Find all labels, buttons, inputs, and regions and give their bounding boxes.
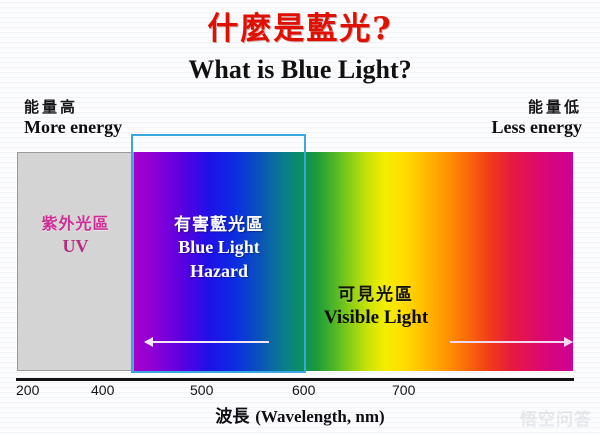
page-title-english: What is Blue Light?	[0, 57, 600, 83]
axis-tick-500: 500	[190, 383, 213, 397]
more-energy-chinese: 能量高	[24, 100, 122, 116]
axis-caption: 波長 (Wavelength, nm)	[0, 408, 600, 426]
hazard-label-english-line1: Blue Light	[140, 237, 298, 259]
axis-tick-200: 200	[16, 383, 39, 397]
arrow-right-shaft	[450, 341, 572, 343]
visible-label-english: Visible Light	[300, 307, 452, 330]
more-energy-caption: 能量高 More energy	[24, 100, 122, 137]
uv-label-english: UV	[17, 236, 134, 257]
wavelength-axis-line	[16, 378, 574, 381]
visible-light-label: 可見光區 Visible Light	[300, 285, 452, 330]
more-energy-english: More energy	[24, 118, 122, 137]
axis-tick-700: 700	[392, 383, 415, 397]
less-energy-chinese: 能量低	[492, 100, 582, 116]
page-title-chinese: 什麼是藍光?	[0, 14, 600, 45]
arrow-right-head	[564, 337, 573, 347]
uv-region-panel	[17, 152, 134, 371]
arrow-left-head	[144, 337, 153, 347]
hazard-label-english-line2: Hazard	[140, 261, 298, 283]
axis-caption-chinese: 波長	[215, 407, 249, 427]
axis-caption-english: (Wavelength, nm)	[255, 407, 384, 426]
visible-label-chinese: 可見光區	[300, 285, 452, 305]
axis-tick-600: 600	[292, 383, 315, 397]
arrow-left-icon	[145, 337, 269, 347]
uv-label-chinese: 紫外光區	[17, 215, 134, 233]
axis-tick-400: 400	[91, 383, 114, 397]
less-energy-caption: 能量低 Less energy	[492, 100, 582, 137]
watermark: 悟空问答	[520, 412, 592, 429]
arrow-left-shaft	[145, 341, 269, 343]
blue-light-hazard-label: 有害藍光區 Blue Light Hazard	[140, 215, 298, 283]
uv-region-label: 紫外光區 UV	[17, 215, 134, 257]
arrow-right-icon	[450, 337, 572, 347]
less-energy-english: Less energy	[492, 118, 582, 137]
hazard-label-chinese: 有害藍光區	[140, 215, 298, 235]
blue-light-spectrum-infographic: 什麼是藍光? What is Blue Light? 能量高 More ener…	[0, 0, 600, 435]
